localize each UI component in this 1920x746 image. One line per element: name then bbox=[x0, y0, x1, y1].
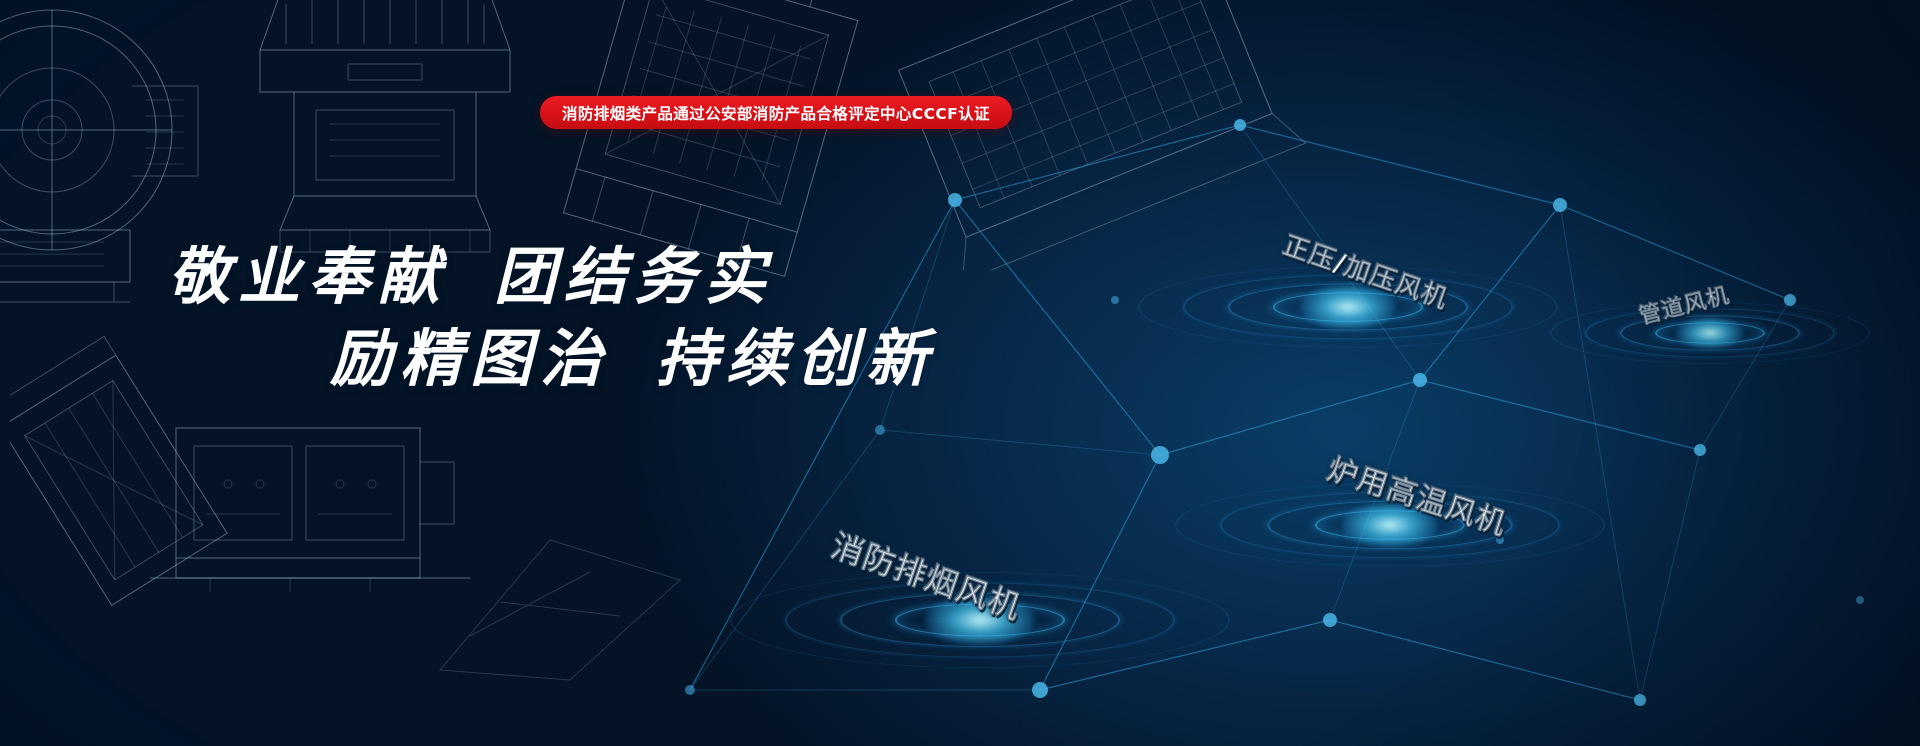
glow-pad-high-temperature-fan bbox=[1220, 430, 1560, 620]
hero-banner: 正压/加压风机 管道风机 炉用高温风机 消防排烟风机 敬业奉献团结务实 励精图治… bbox=[0, 0, 1920, 746]
slogan-line-2-part-1: 励精图治 bbox=[330, 322, 610, 395]
slogan-line-2-part-2: 持续创新 bbox=[656, 322, 936, 395]
air-handling-unit-blueprint-icon bbox=[150, 410, 470, 610]
certification-banner-text: 消防排烟类产品通过公安部消防产品合格评定中心CCCF认证 bbox=[562, 102, 990, 124]
slogan-line-2: 励精图治持续创新 bbox=[330, 308, 936, 398]
slogan-line-1-part-2: 团结务实 bbox=[494, 240, 774, 313]
slogan-line-1: 敬业奉献团结务实 bbox=[168, 226, 774, 316]
product-label-positive-pressure-fan[interactable]: 正压/加压风机 bbox=[1279, 225, 1454, 316]
product-label-duct-fan[interactable]: 管道风机 bbox=[1635, 277, 1732, 330]
glow-pad-positive-pressure-fan bbox=[1178, 212, 1518, 402]
slogan-line-1-part-1: 敬业奉献 bbox=[168, 240, 448, 313]
certification-banner[interactable]: 消防排烟类产品通过公安部消防产品合格评定中心CCCF认证 bbox=[540, 96, 1012, 129]
axial-duct-blueprint-icon bbox=[10, 330, 240, 640]
inclined-panel-blueprint-icon bbox=[860, 0, 1320, 270]
product-label-smoke-exhaust-fan[interactable]: 消防排烟风机 bbox=[826, 521, 1028, 629]
grid-detail-blueprint-icon bbox=[430, 520, 690, 690]
product-label-high-temperature-fan[interactable]: 炉用高温风机 bbox=[1323, 444, 1513, 543]
